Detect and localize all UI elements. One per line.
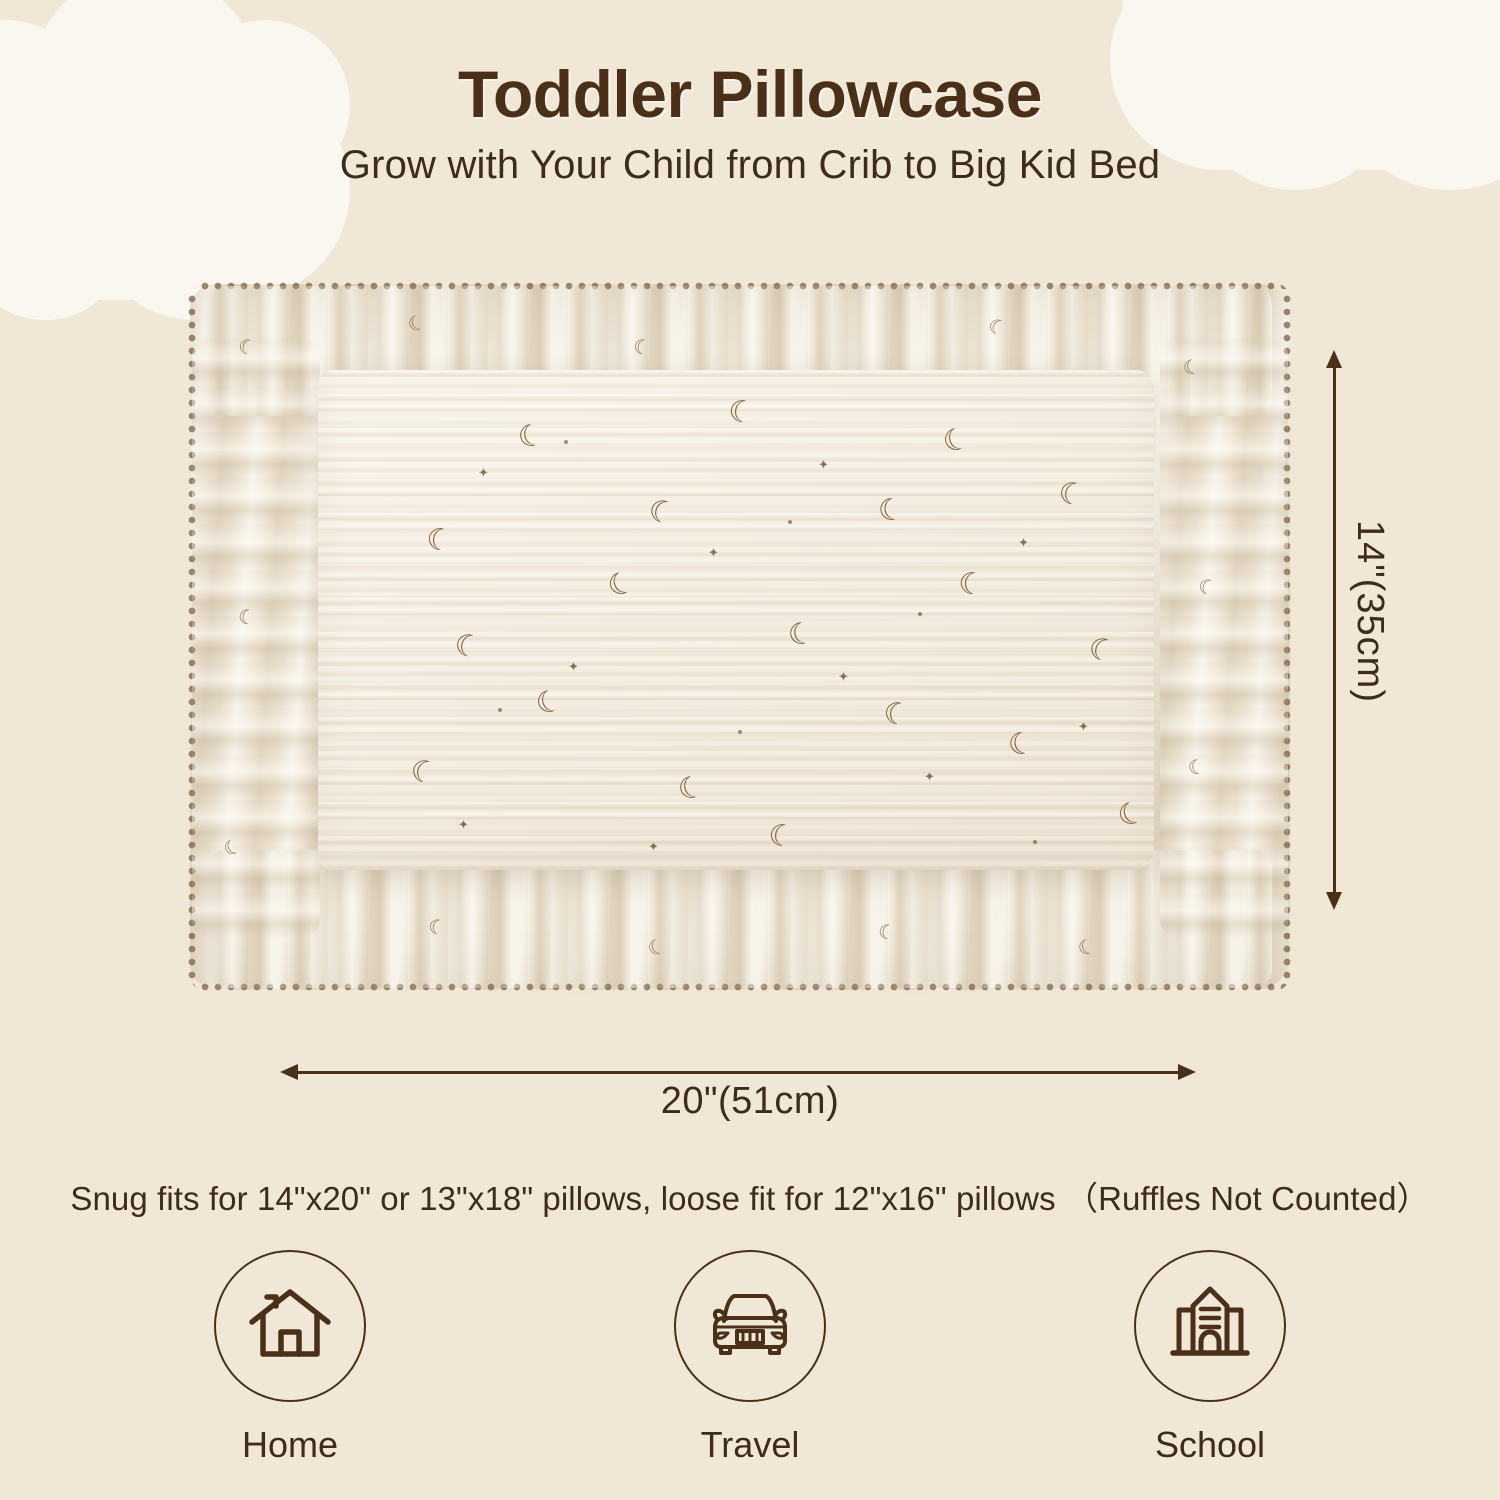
feature-item-home: Home [160, 1250, 420, 1466]
house-icon [244, 1278, 336, 1375]
dot-print [564, 440, 568, 444]
dimension-line-vertical [1333, 366, 1336, 894]
moon-print: ☾ [957, 569, 987, 602]
moon-print: ☾ [1187, 757, 1207, 778]
school-icon [1163, 1281, 1257, 1372]
moon-print: ☾ [1006, 728, 1037, 761]
dot-print [918, 612, 922, 616]
pillowcase-image: ☾ ☾ ☾ ☾ ☾ ☾ ☾ ☾ ☾ ☾ ☾ ☾ ☾ ☾ ☾ ☾ ☾ ☾ ☾ ☾ … [178, 278, 1302, 1000]
moon-print: ☾ [726, 396, 757, 429]
feature-icon-circle [1134, 1250, 1286, 1402]
moon-print: ☾ [237, 607, 257, 628]
moon-print: ☾ [1181, 356, 1203, 379]
dot-print [1033, 840, 1037, 844]
feature-list: Home Travel [0, 1250, 1500, 1466]
car-icon [701, 1283, 799, 1370]
header: Toddler Pillowcase Grow with Your Child … [0, 60, 1500, 188]
feature-item-school: School [1080, 1250, 1340, 1466]
moon-print: ☾ [786, 618, 818, 652]
star-print: ✦ [818, 458, 829, 471]
feature-label: School [1155, 1424, 1265, 1466]
feature-icon-circle [214, 1250, 366, 1402]
star-print: ✦ [568, 660, 579, 673]
moon-print: ☾ [877, 922, 898, 944]
page-title: Toddler Pillowcase [0, 60, 1500, 129]
star-print: ✦ [648, 840, 659, 853]
feature-item-travel: Travel [620, 1250, 880, 1466]
fabric-texture [318, 370, 1154, 870]
feature-icon-circle [674, 1250, 826, 1402]
ruffle-gathers-right [1160, 338, 1288, 938]
dimension-label-width: 20"(51cm) [0, 1080, 1500, 1123]
moon-print: ☾ [424, 524, 456, 558]
fit-note: Snug fits for 14"x20" or 13"x18" pillows… [0, 1172, 1500, 1220]
dot-print [498, 708, 502, 712]
product-photo: ☾ ☾ ☾ ☾ ☾ ☾ ☾ ☾ ☾ ☾ ☾ ☾ ☾ ☾ ☾ ☾ ☾ ☾ ☾ ☾ … [178, 278, 1302, 1000]
star-print: ✦ [838, 670, 849, 683]
page-subtitle: Grow with Your Child from Crib to Big Ki… [0, 143, 1500, 188]
dot-print [788, 520, 792, 524]
star-print: ✦ [458, 818, 469, 831]
moon-print: ☾ [766, 820, 797, 854]
ruffle-gathers-bottom [208, 850, 1272, 988]
star-print: ✦ [708, 546, 719, 559]
star-print: ✦ [478, 466, 489, 479]
pillow-panel: ☾ ☾ ☾ ☾ ☾ ☾ ☾ ☾ ☾ ☾ ☾ ☾ ☾ ☾ ☾ ☾ ☾ ☾ ☾ ✦ … [318, 370, 1154, 870]
star-print: ✦ [1078, 720, 1089, 733]
star-print: ✦ [924, 770, 935, 783]
feature-label: Travel [701, 1424, 800, 1466]
dimension-label-height: 14"(35cm) [1348, 520, 1391, 703]
moon-print: ☾ [877, 495, 907, 528]
dot-print [738, 730, 742, 734]
moon-print: ☾ [631, 337, 652, 360]
ruffle-gathers-left [192, 338, 320, 938]
feature-label: Home [242, 1424, 338, 1466]
star-print: ✦ [1018, 536, 1029, 549]
dimension-line-horizontal [296, 1071, 1180, 1074]
